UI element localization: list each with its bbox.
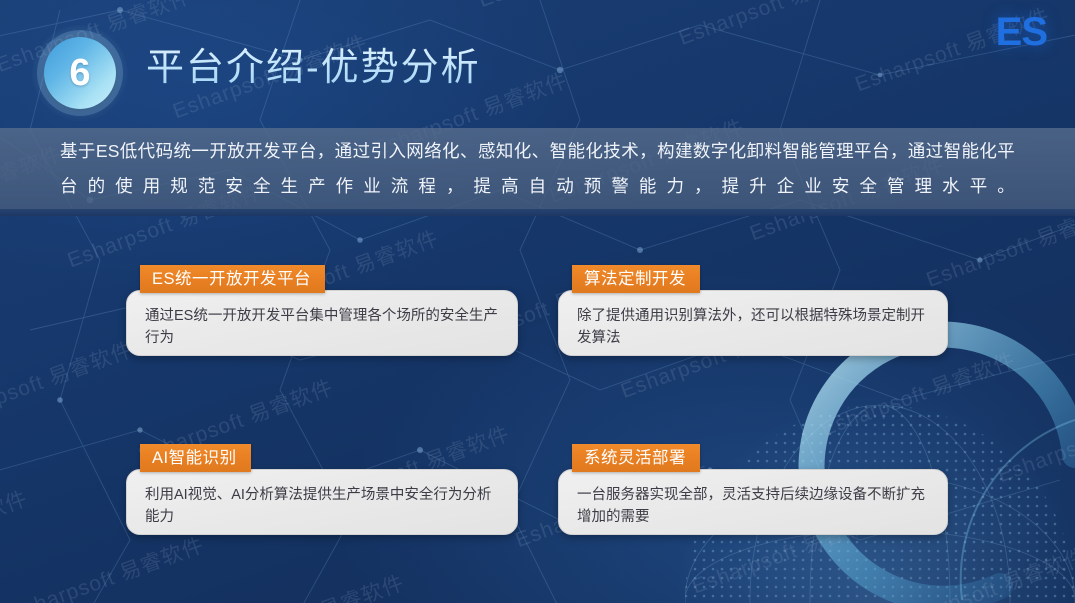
slide-number-badge-inner: 6: [44, 37, 116, 109]
watermark-text: Esharpsoft 易睿软件: [816, 345, 1019, 443]
feature-card-body: 通过ES统一开放开发平台集中管理各个场所的安全生产行为: [126, 290, 518, 356]
slide-number: 6: [69, 54, 90, 92]
watermark-text: Esharpsoft 易睿软件: [0, 334, 137, 432]
feature-card[interactable]: ES统一开放开发平台 通过ES统一开放开发平台集中管理各个场所的安全生产行为: [126, 265, 518, 356]
feature-card[interactable]: 算法定制开发 除了提供通用识别算法外，还可以根据特殊场景定制开发算法: [558, 265, 948, 356]
watermark-text: Esharpsoft 易睿软件: [205, 567, 408, 603]
feature-card[interactable]: AI智能识别 利用AI视觉、AI分析算法提供生产场景中安全行为分析能力: [126, 444, 518, 535]
feature-card-title: AI智能识别: [140, 444, 251, 472]
page-title: 平台介绍-优势分析: [146, 36, 481, 91]
feature-card-body: 除了提供通用识别算法外，还可以根据特殊场景定制开发算法: [558, 290, 948, 356]
feature-card-title: 系统灵活部署: [572, 444, 700, 472]
banner-underline: [0, 209, 1075, 216]
feature-card-body: 利用AI视觉、AI分析算法提供生产场景中安全行为分析能力: [126, 469, 518, 535]
watermark-text: Esharpsoft 易睿软件: [5, 529, 208, 603]
watermark-text: Esharpsoft 易睿软件: [0, 483, 31, 581]
watermark-text: Esharpsoft 易睿软件: [1064, 587, 1075, 603]
watermark-text: Esharpsoft 易睿软件: [674, 0, 877, 52]
feature-card-title: ES统一开放开发平台: [140, 265, 325, 293]
watermark-text: Esharpsoft 易睿软件: [887, 540, 1075, 603]
summary-banner-text: 基于ES低代码统一开放开发平台，通过引入网络化、感知化、智能化技术，构建数字化卸…: [60, 134, 1015, 204]
feature-card[interactable]: 系统灵活部署 一台服务器实现全部，灵活支持后续边缘设备不断扩充增加的需要: [558, 444, 948, 535]
feature-card-body: 一台服务器实现全部，灵活支持后续边缘设备不断扩充增加的需要: [558, 469, 948, 535]
es-logo: ES: [996, 10, 1047, 55]
watermark-text: Esharpsoft 易睿软件: [474, 0, 677, 14]
feature-card-title: 算法定制开发: [572, 265, 700, 293]
slide: Esharpsoft 易睿软件Esharpsoft 易睿软件Esharpsoft…: [0, 0, 1075, 603]
summary-banner: 基于ES低代码统一开放开发平台，通过引入网络化、感知化、智能化技术，构建数字化卸…: [0, 128, 1075, 209]
watermark-text: Esharpsoft 易睿软件: [993, 391, 1075, 489]
slide-number-badge: 6: [32, 25, 128, 121]
